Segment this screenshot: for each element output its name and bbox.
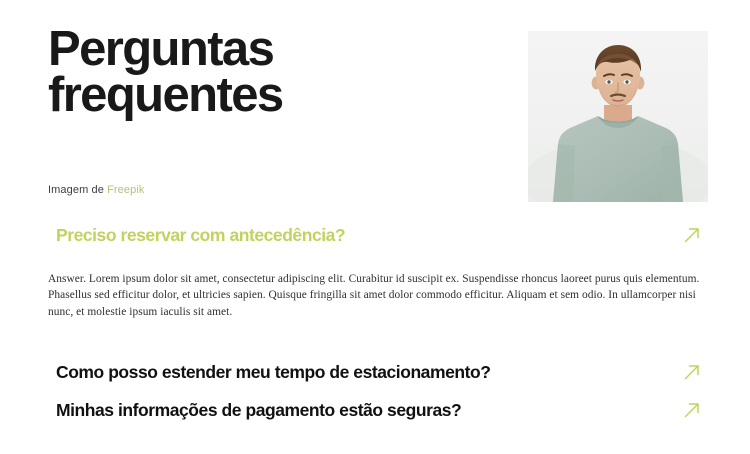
faq-answer-wrapper: Answer. Lorem ipsum dolor sit amet, cons… <box>48 271 702 320</box>
image-credit-prefix: Imagem de <box>48 184 107 196</box>
hero-text-block: Perguntas frequentes Imagem de Freepik <box>48 26 478 118</box>
arrow-up-right-icon[interactable] <box>682 225 702 245</box>
portrait-photo-graphic <box>528 31 708 202</box>
faq-answer: Answer. Lorem ipsum dolor sit amet, cons… <box>48 271 702 320</box>
arrow-up-right-icon[interactable] <box>682 400 702 420</box>
faq-item-header[interactable]: Preciso reservar com antecedência? <box>56 223 702 247</box>
arrow-up-right-icon[interactable] <box>682 362 702 382</box>
hero-section: Perguntas frequentes Imagem de Freepik <box>0 0 750 212</box>
faq-question[interactable]: Como posso estender meu tempo de estacio… <box>56 360 666 384</box>
hero-photo <box>528 31 708 202</box>
faq-page: Perguntas frequentes Imagem de Freepik <box>0 0 750 454</box>
freepik-link[interactable]: Freepik <box>107 184 144 196</box>
faq-item[interactable]: Como posso estender meu tempo de estacio… <box>0 360 750 384</box>
page-title: Perguntas frequentes <box>48 26 325 118</box>
faq-item[interactable]: Minhas informações de pagamento estão se… <box>0 398 750 422</box>
faq-item-header[interactable]: Como posso estender meu tempo de estacio… <box>56 360 702 384</box>
image-credit: Imagem de Freepik <box>48 183 144 197</box>
faq-question[interactable]: Preciso reservar com antecedência? <box>56 223 666 247</box>
faq-item[interactable]: Preciso reservar com antecedência? Answe… <box>0 223 750 320</box>
faq-item-header[interactable]: Minhas informações de pagamento estão se… <box>56 398 702 422</box>
faq-question[interactable]: Minhas informações de pagamento estão se… <box>56 398 666 422</box>
